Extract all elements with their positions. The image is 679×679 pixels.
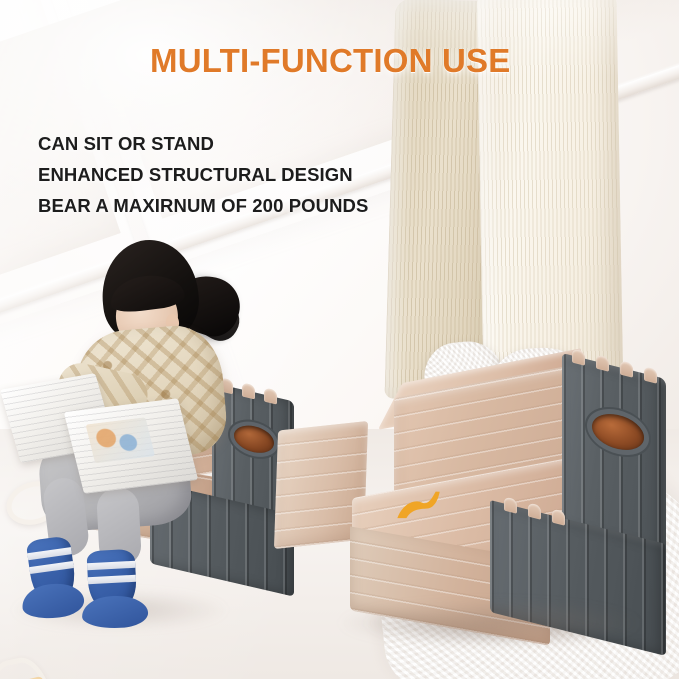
sock-stripe xyxy=(29,561,74,574)
sock-stripe xyxy=(88,575,136,585)
page-title: MULTI-FUNCTION USE xyxy=(150,42,510,80)
scene-child-sitting xyxy=(0,230,340,679)
stool-contact-shadow xyxy=(340,600,640,646)
book-page-right xyxy=(64,398,198,494)
picture-book xyxy=(10,374,188,490)
book-illustration xyxy=(86,417,155,463)
oval-handle-icon xyxy=(592,409,644,454)
sock-stripe xyxy=(87,561,135,571)
feature-list: CAN SIT OR STAND ENHANCED STRUCTURAL DES… xyxy=(38,128,368,221)
feature-item: ENHANCED STRUCTURAL DESIGN xyxy=(38,159,368,190)
feature-item: CAN SIT OR STAND xyxy=(38,128,368,159)
feature-item: BEAR A MAXIRNUM OF 200 POUNDS xyxy=(38,190,368,221)
rib-cap xyxy=(644,366,657,383)
sock-stripe xyxy=(27,547,72,560)
scene-adult-standing xyxy=(372,0,679,679)
wall-hook-icon xyxy=(0,653,68,679)
product-marketing-poster: MULTI-FUNCTION USE CAN SIT OR STAND ENHA… xyxy=(0,0,679,679)
rib-cap xyxy=(264,388,277,405)
child-figure xyxy=(6,232,256,612)
step-stool-right xyxy=(366,372,666,642)
